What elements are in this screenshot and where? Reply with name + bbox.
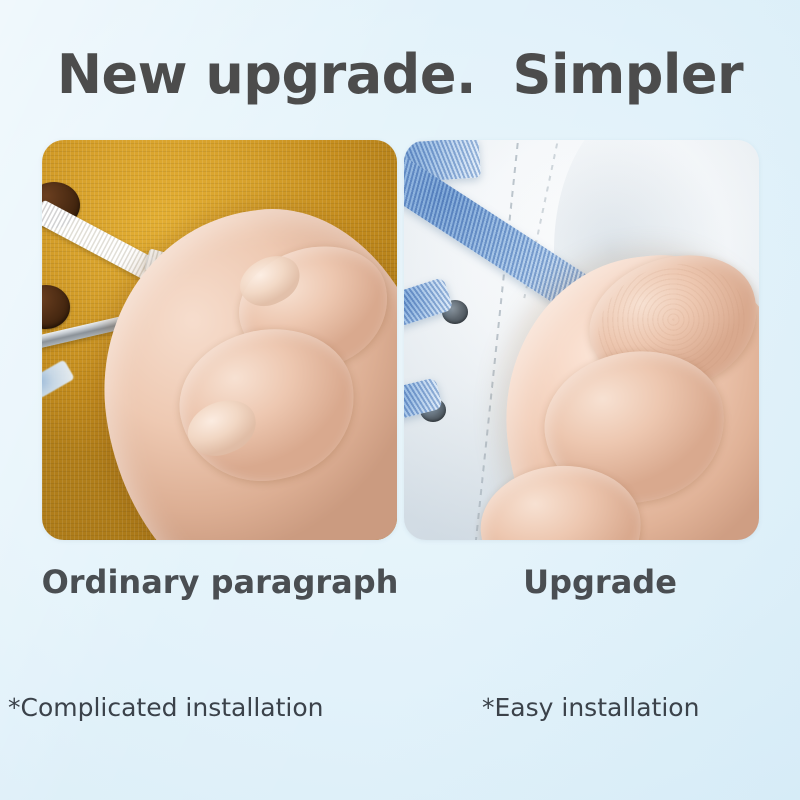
photo-right-content xyxy=(404,140,759,540)
photo-ordinary-shoelace xyxy=(42,140,397,540)
column-heading-ordinary: Ordinary paragraph xyxy=(0,562,440,602)
list-item: *Complicated installation xyxy=(8,690,428,726)
page-title: New upgrade. Simpler xyxy=(0,44,800,106)
bullet-list-ordinary: *Complicated installation *Requires a sc… xyxy=(8,618,428,800)
product-infographic: New upgrade. Simpler xyxy=(0,0,800,800)
column-heading-upgrade: Upgrade xyxy=(400,562,800,602)
bullet-list-upgrade: *Easy installation *Direct rotation fixe… xyxy=(482,618,800,800)
photo-left-content xyxy=(42,140,397,540)
list-item: *Easy installation xyxy=(482,690,800,726)
photo-upgraded-shoelace xyxy=(404,140,759,540)
